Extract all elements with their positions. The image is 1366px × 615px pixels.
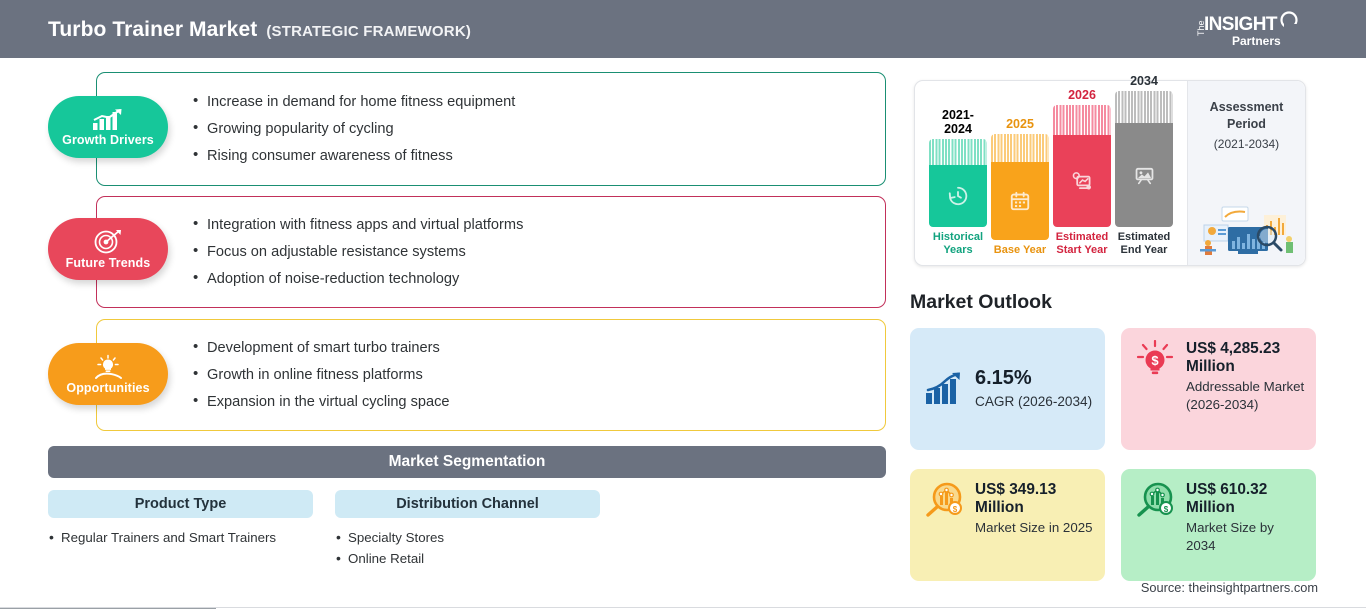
bar-chart-arrow-icon [91, 108, 125, 132]
header-title-group: Turbo Trainer Market (STRATEGIC FRAMEWOR… [48, 18, 471, 42]
badge-label: Opportunities [66, 381, 149, 395]
bar-category-label: Base Year [991, 244, 1049, 257]
bar-year-label: 2021-2024 [929, 108, 987, 136]
opportunities-card: Development of smart turbo trainers Grow… [96, 319, 886, 431]
magnifier-chart-icon: $ [1133, 481, 1177, 521]
outlook-card-desc: CAGR (2026-2034) [975, 393, 1095, 411]
segmentation-header: Distribution Channel [335, 490, 600, 518]
assessment-title-line1: Assessment [1188, 99, 1305, 116]
outlook-card-desc: Market Size in 2025 [975, 519, 1095, 537]
assessment-period-range: (2021-2034) [1188, 137, 1305, 151]
timeline-bar-estimated-start-year: 2026 Estimated Start Year [1053, 88, 1111, 257]
list-item: Development of smart turbo trainers [193, 340, 869, 356]
page-header: Turbo Trainer Market (STRATEGIC FRAMEWOR… [0, 0, 1366, 58]
bar-year-label: 2026 [1053, 88, 1111, 102]
segmentation-items: Specialty Stores Online Retail [335, 527, 600, 569]
bar-category-label: Historical Years [929, 231, 987, 257]
outlook-card-text: US$ 4,285.23 Million Addressable Market … [1186, 340, 1306, 414]
segmentation-header: Product Type [48, 490, 313, 518]
settings-chart-icon [1071, 170, 1094, 192]
assessment-title-line2: Period [1188, 116, 1305, 133]
history-clock-icon [947, 185, 969, 207]
list-item: Growth in online fitness platforms [193, 367, 869, 383]
svg-text:$: $ [953, 505, 958, 514]
outlook-card-value: US$ 4,285.23 Million [1186, 340, 1306, 375]
list-item: Rising consumer awareness of fitness [193, 148, 869, 164]
lightbulb-hand-icon [92, 354, 124, 380]
list-item: Online Retail [335, 548, 600, 569]
list-item: Adoption of noise-reduction technology [193, 271, 869, 287]
segmentation-items: Regular Trainers and Smart Trainers [48, 527, 313, 548]
list-item: Regular Trainers and Smart Trainers [48, 527, 313, 548]
outlook-card-text: 6.15% CAGR (2026-2034) [975, 367, 1095, 411]
data-analysis-illustration [1194, 203, 1300, 259]
future-trends-bullets: Integration with fitness apps and virtua… [193, 197, 869, 307]
opportunities-badge[interactable]: Opportunities [48, 343, 168, 405]
svg-text:$: $ [1164, 505, 1169, 514]
page-title: Turbo Trainer Market [48, 18, 257, 42]
market-outlook-title: Market Outlook [910, 291, 1052, 314]
segmentation-column-distribution-channel: Distribution Channel Specialty Stores On… [335, 490, 600, 569]
outlook-card-addressable-market: $ US$ 4,285.23 Million Addressable Marke… [1121, 328, 1316, 450]
market-segmentation-title: Market Segmentation [48, 446, 886, 478]
outlook-card-value: 6.15% [975, 367, 1095, 390]
calendar-icon [1009, 190, 1031, 212]
outlook-card-desc: Market Size by 2034 [1186, 519, 1306, 555]
list-item: Increase in demand for home fitness equi… [193, 94, 869, 110]
timeline-bar-estimated-end-year: 2034 Estimated End Year [1115, 74, 1173, 257]
timeline-bar-base-year: 2025 Base Year [991, 117, 1049, 257]
logo-insight-text: INSIGHT [1204, 14, 1278, 35]
presentation-chart-icon [1133, 164, 1156, 186]
page-subtitle: (STRATEGIC FRAMEWORK) [266, 23, 471, 40]
logo-partners-text: Partners [1232, 34, 1281, 48]
opportunities-bullets: Development of smart turbo trainers Grow… [193, 320, 869, 430]
list-item: Integration with fitness apps and virtua… [193, 217, 869, 233]
source-attribution: Source: theinsightpartners.com [1141, 580, 1318, 595]
future-trends-badge[interactable]: Future Trends [48, 218, 168, 280]
insight-partners-logo: The INSIGHT Partners [1188, 10, 1308, 50]
list-item: Expansion in the virtual cycling space [193, 394, 869, 410]
bottom-divider-accent [0, 608, 216, 609]
assessment-timeline-panel: 2021-2024 Historical Years 2025 [914, 80, 1306, 266]
list-item: Growing popularity of cycling [193, 121, 869, 137]
infographic-page: Turbo Trainer Market (STRATEGIC FRAMEWOR… [0, 0, 1366, 615]
outlook-card-text: US$ 349.13 Million Market Size in 2025 [975, 481, 1095, 537]
timeline-bar-historical-years: 2021-2024 Historical Years [929, 108, 987, 257]
outlook-card-value: US$ 349.13 Million [975, 481, 1095, 516]
growth-drivers-card: Increase in demand for home fitness equi… [96, 72, 886, 186]
magnifier-chart-icon: $ [922, 481, 966, 521]
badge-label: Growth Drivers [62, 133, 154, 147]
outlook-card-cagr: 6.15% CAGR (2026-2034) [910, 328, 1105, 450]
outlook-card-text: US$ 610.32 Million Market Size by 2034 [1186, 481, 1306, 555]
badge-label: Future Trends [66, 256, 151, 270]
list-item: Specialty Stores [335, 527, 600, 548]
bar-category-label: Estimated Start Year [1053, 231, 1111, 257]
outlook-card-market-size-2034: $ US$ 610.32 Million Market Size by 2034 [1121, 469, 1316, 581]
outlook-card-market-size-2025: $ US$ 349.13 Million Market Size in 2025 [910, 469, 1105, 581]
bar-year-label: 2025 [991, 117, 1049, 131]
bar-category-label: Estimated End Year [1115, 231, 1173, 257]
timeline-bars: 2021-2024 Historical Years 2025 [925, 81, 1175, 265]
outlook-card-desc: Addressable Market (2026-2034) [1186, 378, 1306, 414]
segmentation-column-product-type: Product Type Regular Trainers and Smart … [48, 490, 313, 548]
assessment-period-panel: Assessment Period (2021-2034) [1187, 81, 1305, 265]
list-item: Focus on adjustable resistance systems [193, 244, 869, 260]
svg-text:$: $ [1151, 353, 1159, 368]
growth-drivers-badge[interactable]: Growth Drivers [48, 96, 168, 158]
outlook-card-value: US$ 610.32 Million [1186, 481, 1306, 516]
growth-drivers-bullets: Increase in demand for home fitness equi… [193, 73, 869, 185]
lightbulb-dollar-icon: $ [1133, 340, 1177, 382]
bar-year-label: 2034 [1115, 74, 1173, 88]
growth-bar-chart-icon [922, 371, 966, 407]
future-trends-card: Integration with fitness apps and virtua… [96, 196, 886, 308]
target-dart-icon [93, 229, 123, 255]
